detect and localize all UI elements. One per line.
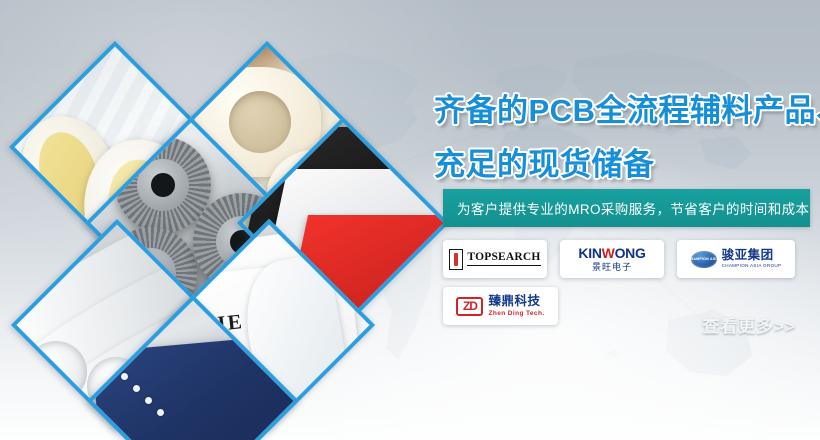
partner-logo-subtext: CHAMPION ASIA GROUP (722, 264, 782, 269)
book-icon (449, 249, 463, 270)
partner-logo-zhen-ding[interactable]: ZD 臻鼎科技 Zhen Ding Tech. (443, 287, 558, 325)
partner-logo-text: 骏亚集团 (722, 249, 782, 262)
partner-logo-subtext: 景旺电子 (592, 263, 632, 272)
partner-logo-topsearch[interactable]: TOPSEARCH (443, 240, 547, 278)
partner-logo-text: 臻鼎科技 (488, 295, 544, 308)
product-image-collage: JIE (0, 0, 430, 440)
kinwong-w-mark: W (602, 245, 615, 261)
promo-banner: JIE 齐备的PCB全流程辅料产品、 充足的现货储备 为客户提供专业的MRO采购… (0, 0, 820, 440)
view-more-link[interactable]: 查看更多>> (702, 312, 796, 337)
subtitle-bar: 为客户提供专业的MRO采购服务，节省客户的时间和成本 (443, 189, 810, 227)
headline-line-2: 充足的现货储备 (434, 140, 820, 190)
partner-logo-kinwong[interactable]: KINWONG 景旺电子 (560, 240, 664, 278)
page-title: 齐备的PCB全流程辅料产品、 充足的现货储备 (434, 86, 820, 190)
partner-logo-text: KINWONG (578, 246, 645, 260)
banner-content: 齐备的PCB全流程辅料产品、 充足的现货储备 为客户提供专业的MRO采购服务，节… (425, 0, 820, 440)
partner-logo-text: TOPSEARCH (467, 252, 540, 264)
partner-logo-subtext: Zhen Ding Tech. (488, 311, 544, 318)
partner-logo-row-1: TOPSEARCH KINWONG 景旺电子 CHAMPION ASIA (443, 240, 820, 278)
headline-line-1: 齐备的PCB全流程辅料产品、 (434, 86, 820, 136)
zd-monogram-icon: ZD (456, 297, 483, 316)
globe-icon: CHAMPION ASIA (691, 251, 717, 268)
rule-divider (467, 265, 540, 266)
partner-logo-champion-asia[interactable]: CHAMPION ASIA 骏亚集团 CHAMPION ASIA GROUP (677, 240, 795, 278)
subtitle-text: 为客户提供专业的MRO采购服务，节省客户的时间和成本 (443, 198, 809, 218)
